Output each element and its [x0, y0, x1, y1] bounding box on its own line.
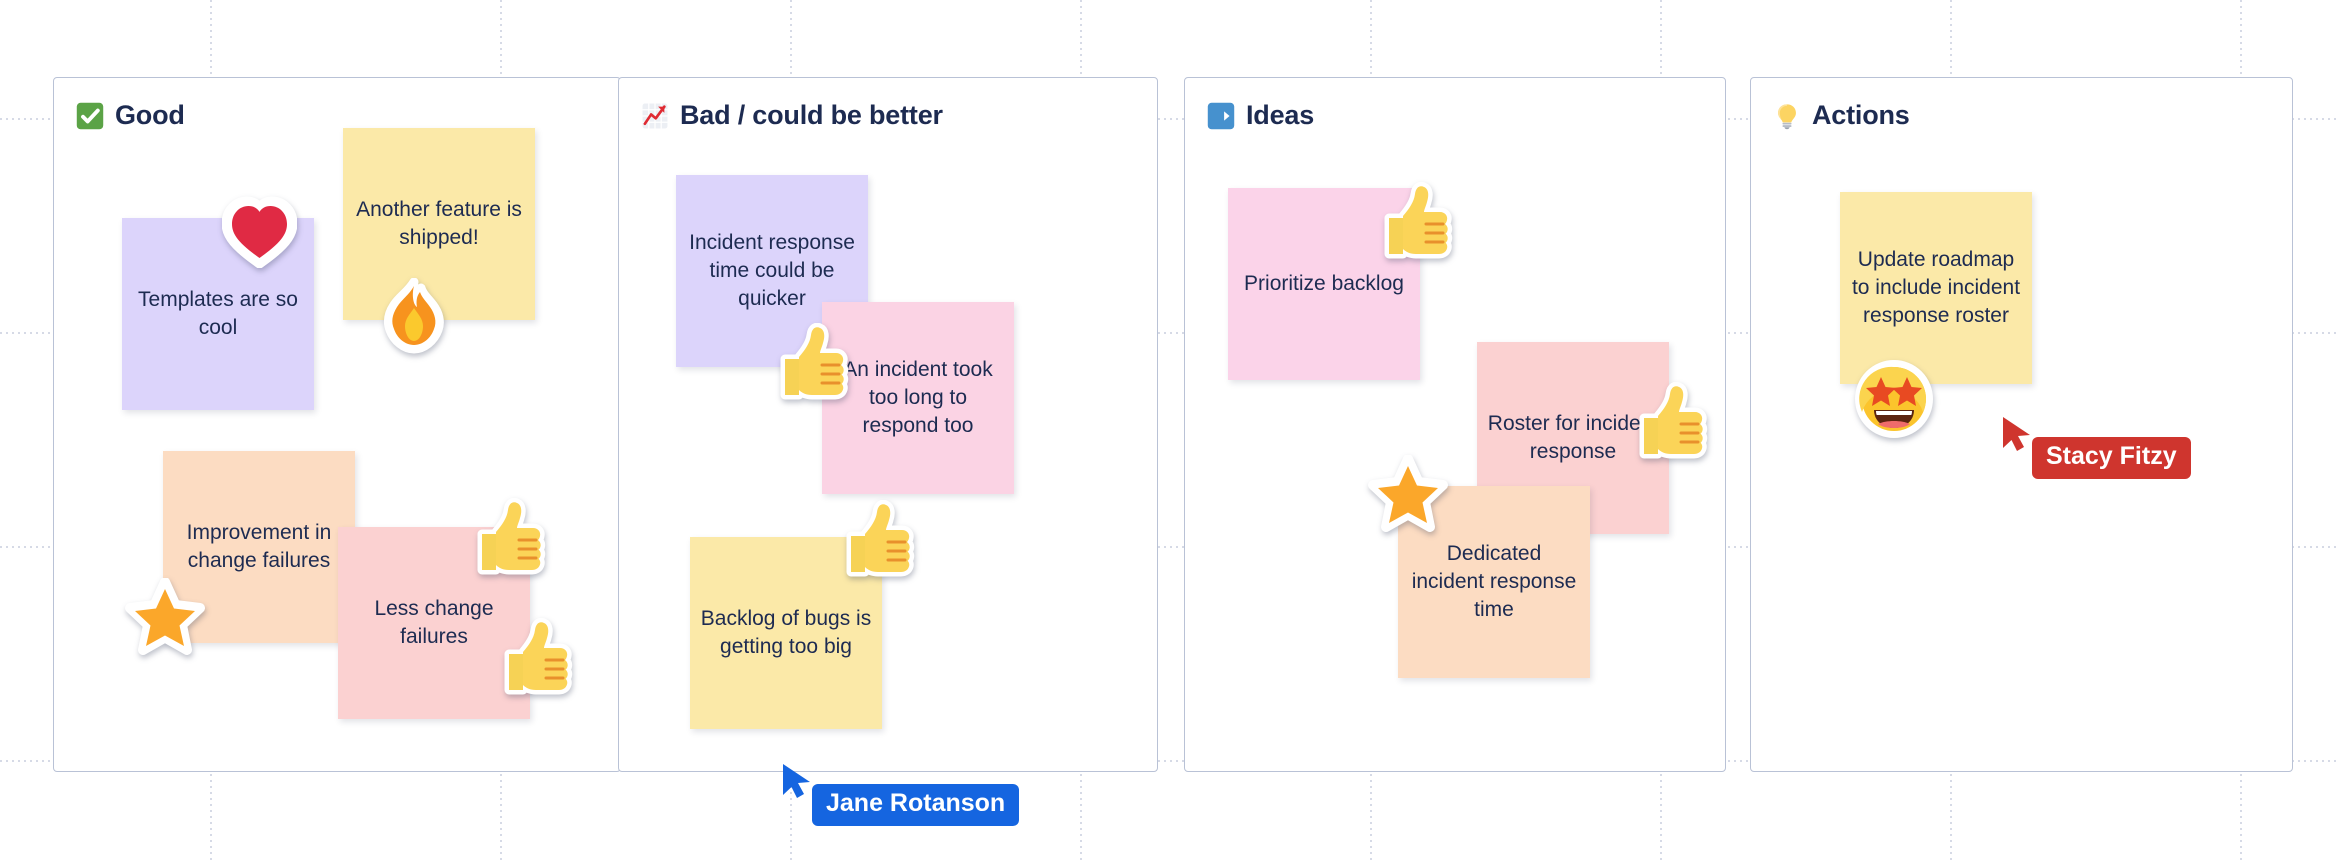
sticky-note[interactable]: Update roadmap to include incident respo…: [1840, 192, 2032, 384]
sticky-note-text: Update roadmap to include incident respo…: [1850, 246, 2022, 330]
light-bulb-icon: [1773, 102, 1801, 130]
sticky-note-text: Dedicated incident response time: [1408, 540, 1580, 624]
column-header-bad: Bad / could be better: [641, 100, 943, 131]
sticky-note-text: Improvement in change failures: [173, 519, 345, 575]
column-title: Ideas: [1246, 100, 1314, 131]
column-title: Actions: [1812, 100, 1910, 131]
thumbs-up-sticker[interactable]: [1638, 382, 1710, 460]
white-check-mark-icon: [76, 102, 104, 130]
chart-increasing-icon: [641, 102, 669, 130]
right-arrow-icon: [1207, 102, 1235, 130]
column-header-good: Good: [76, 100, 185, 131]
sticky-note-text: Another feature is shipped!: [353, 196, 525, 252]
cursor-label: Jane Rotanson: [812, 784, 1019, 826]
cursor-stacy-fitzy: Stacy Fitzy: [2000, 415, 2191, 479]
thumbs-up-sticker[interactable]: [1383, 182, 1455, 260]
thumbs-up-sticker[interactable]: [845, 500, 917, 578]
sticky-note-text: Templates are so cool: [132, 286, 304, 342]
cursor-pointer-icon: [2000, 415, 2034, 458]
star-sticker[interactable]: [1368, 455, 1448, 532]
column-title: Bad / could be better: [680, 100, 943, 131]
sticky-note-text: An incident took too long to respond too: [832, 356, 1004, 440]
thumbs-up-sticker[interactable]: [503, 618, 575, 696]
column-header-ideas: Ideas: [1207, 100, 1314, 131]
thumbs-up-sticker[interactable]: [779, 323, 851, 401]
sticky-note-text: Roster for incident response: [1487, 410, 1659, 466]
sticky-note-text: Prioritize backlog: [1244, 270, 1404, 298]
sticky-note-text: Backlog of bugs is getting too big: [700, 605, 872, 661]
heart-sticker[interactable]: [222, 196, 297, 268]
sticky-note-text: Incident response time could be quicker: [686, 229, 858, 313]
cursor-label: Stacy Fitzy: [2032, 437, 2191, 479]
fire-sticker[interactable]: [378, 278, 450, 354]
column-header-actions: Actions: [1773, 100, 1910, 131]
star-struck-sticker[interactable]: [1855, 360, 1933, 438]
star-sticker[interactable]: [125, 578, 205, 655]
sticky-note-text: Less change failures: [348, 595, 520, 651]
cursor-pointer-icon: [780, 762, 814, 805]
cursor-jane-rotanson: Jane Rotanson: [780, 762, 1019, 826]
column-title: Good: [115, 100, 185, 131]
thumbs-up-sticker[interactable]: [476, 498, 548, 576]
